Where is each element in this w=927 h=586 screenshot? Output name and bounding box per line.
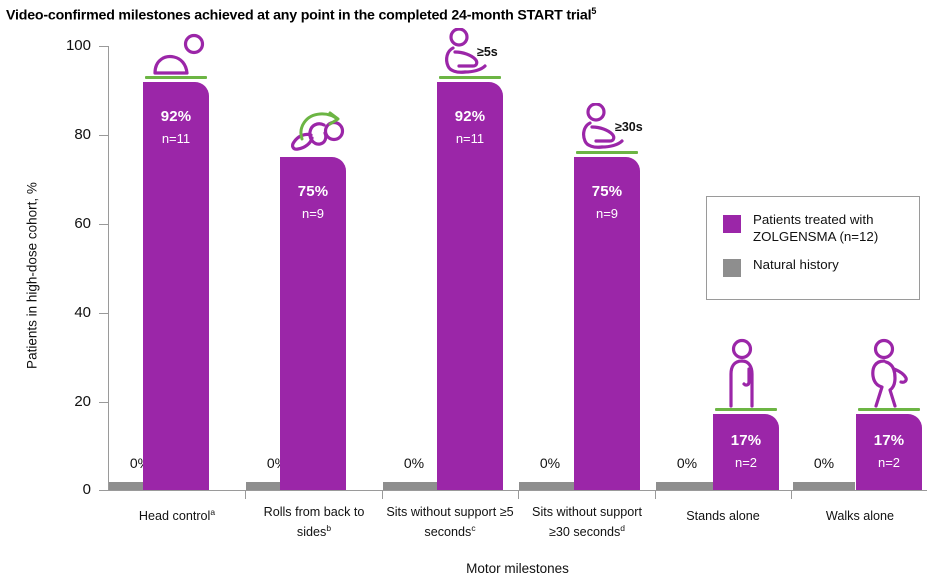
legend-label-natural-history: Natural history xyxy=(753,256,918,273)
motor-milestones-bar-chart: Video-confirmed milestones achieved at a… xyxy=(0,0,927,586)
bar-zolgensma-rolls: 75% n=9 xyxy=(280,157,346,490)
chart-title-text: Video-confirmed milestones achieved at a… xyxy=(6,8,591,24)
bar-natural-history-stands xyxy=(656,482,718,490)
y-tick-0 xyxy=(99,490,109,491)
green-underline-stands xyxy=(715,408,777,411)
bar-natural-history-sits-30s xyxy=(519,482,581,490)
chart-title: Video-confirmed milestones achieved at a… xyxy=(6,6,921,24)
bar-value-rolls: 75% xyxy=(280,183,346,200)
y-tick-100 xyxy=(99,46,109,47)
legend-swatch-natural-history xyxy=(723,259,741,277)
bar-n-rolls: n=9 xyxy=(280,206,346,221)
bar-value-sits-5s: 92% xyxy=(437,108,503,125)
category-label-sits-30s: Sits without support ≥30 secondsd xyxy=(520,504,654,540)
y-tick-label-0: 0 xyxy=(29,482,91,497)
walks-alone-icon xyxy=(862,338,916,408)
legend-label-zolgensma-line2: ZOLGENSMA (n=12) xyxy=(753,228,918,245)
legend-swatch-zolgensma xyxy=(723,215,741,233)
bar-zolgensma-head-control: 92% n=11 xyxy=(143,82,209,490)
category-label-walks: Walks alone xyxy=(793,504,927,524)
bar-n-sits-30s: n=9 xyxy=(574,206,640,221)
duration-label-sits-30s: ≥30s xyxy=(615,120,643,134)
x-axis-title: Motor milestones xyxy=(108,561,927,576)
bar-value-head-control: 92% xyxy=(143,108,209,125)
legend-label-zolgensma-line1: Patients treated with xyxy=(753,211,918,228)
y-axis-title: Patients in high-dose cohort, % xyxy=(25,76,40,476)
bar-value-sits-30s: 75% xyxy=(574,183,640,200)
y-tick-label-100: 100 xyxy=(29,38,91,53)
rolls-from-back-to-sides-icon xyxy=(278,105,352,155)
green-underline-sits-30s xyxy=(576,151,638,154)
y-tick-40 xyxy=(99,313,109,314)
zero-label-walks: 0% xyxy=(794,455,854,471)
bar-n-head-control: n=11 xyxy=(143,131,209,146)
green-underline-sits-5s xyxy=(439,76,501,79)
bar-zolgensma-walks: 17% n=2 xyxy=(856,414,922,490)
bar-n-sits-5s: n=11 xyxy=(437,131,503,146)
category-label-rolls: Rolls from back to sidesb xyxy=(247,504,381,540)
bar-zolgensma-stands: 17% n=2 xyxy=(713,414,779,490)
x-tick-2 xyxy=(382,490,383,499)
x-tick-1 xyxy=(245,490,246,499)
zero-label-sits-5s: 0% xyxy=(384,455,444,471)
y-axis-line xyxy=(108,46,109,490)
green-underline-walks xyxy=(858,408,920,411)
bar-n-stands: n=2 xyxy=(713,455,779,470)
category-label-sits-5s: Sits without support ≥5 secondsc xyxy=(383,504,517,540)
bar-zolgensma-sits-30s: 75% n=9 xyxy=(574,157,640,490)
x-tick-4 xyxy=(655,490,656,499)
legend: Patients treated with ZOLGENSMA (n=12) N… xyxy=(706,196,920,300)
y-tick-20 xyxy=(99,402,109,403)
category-label-head-control: Head controla xyxy=(110,504,244,524)
bar-zolgensma-sits-5s: 92% n=11 xyxy=(437,82,503,490)
legend-label-zolgensma: Patients treated with ZOLGENSMA (n=12) xyxy=(753,211,918,245)
bar-n-walks: n=2 xyxy=(856,455,922,470)
zero-label-sits-30s: 0% xyxy=(520,455,580,471)
bar-natural-history-walks xyxy=(793,482,855,490)
bar-natural-history-sits-5s xyxy=(383,482,445,490)
x-tick-5 xyxy=(791,490,792,499)
stands-alone-icon xyxy=(723,338,769,408)
chart-title-superscript: 5 xyxy=(591,6,596,16)
duration-label-sits-5s: ≥5s xyxy=(477,45,498,59)
head-control-icon xyxy=(143,33,213,77)
x-tick-3 xyxy=(518,490,519,499)
category-label-stands: Stands alone xyxy=(656,504,790,524)
bar-value-stands: 17% xyxy=(713,432,779,449)
y-tick-80 xyxy=(99,135,109,136)
zero-label-stands: 0% xyxy=(657,455,717,471)
bar-value-walks: 17% xyxy=(856,432,922,449)
y-tick-60 xyxy=(99,224,109,225)
